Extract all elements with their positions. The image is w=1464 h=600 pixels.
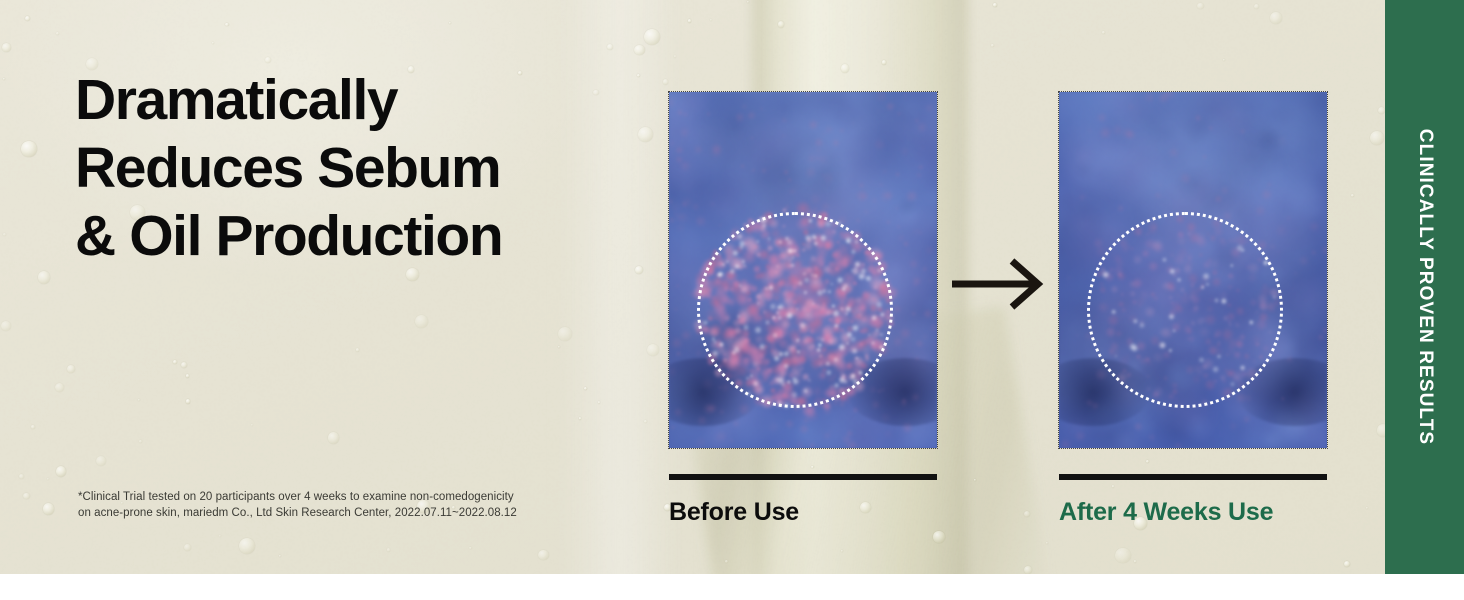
clinical-results-banner: Dramatically Reduces Sebum & Oil Product… xyxy=(0,0,1464,574)
after-caption: After 4 Weeks Use xyxy=(1059,498,1273,527)
after-focus-circle xyxy=(1087,212,1283,408)
before-caption-rule xyxy=(669,474,937,480)
arrow-right-icon xyxy=(950,258,1046,310)
bottom-white-strip xyxy=(0,574,1464,600)
clinically-proven-sidebar: CLINICALLY PROVEN RESULTS xyxy=(1385,0,1464,574)
after-image-panel xyxy=(1059,92,1327,448)
before-caption: Before Use xyxy=(669,498,799,527)
page-title: Dramatically Reduces Sebum & Oil Product… xyxy=(75,66,502,270)
after-caption-rule xyxy=(1059,474,1327,480)
clinical-trial-footnote: *Clinical Trial tested on 20 participant… xyxy=(78,489,517,521)
before-image-panel xyxy=(669,92,937,448)
before-focus-circle xyxy=(697,212,893,408)
sidebar-label: CLINICALLY PROVEN RESULTS xyxy=(1414,129,1436,445)
